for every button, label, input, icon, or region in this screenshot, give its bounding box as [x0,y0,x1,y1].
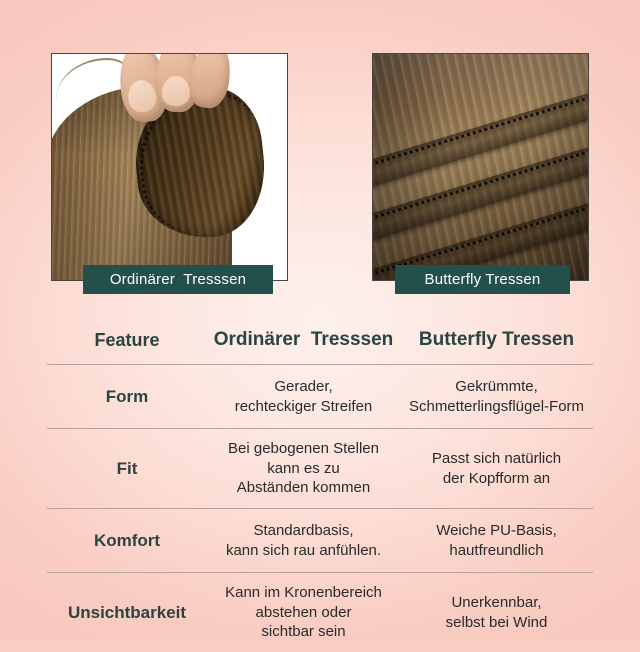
ordinary-weft-photo [51,53,288,281]
column-header-feature: Feature [47,329,207,352]
row-butterfly-cell: Unerkennbar, selbst bei Wind [400,593,593,632]
row-butterfly-cell: Passt sich natürlich der Kopfform an [400,449,593,488]
row-butterfly-cell: Gekrümmte, Schmetterlingsflügel-Form [400,377,593,416]
butterfly-weft-illustration [373,54,588,280]
table-header-row: Feature Ordinärer Tresssen Butterfly Tre… [47,316,593,364]
row-feature-label: Form [47,386,207,407]
row-ordinary-cell: Gerader, rechteckiger Streifen [207,377,400,416]
ordinary-weft-illustration [52,54,287,280]
row-ordinary-cell: Bei gebogenen Stellen kann es zu Abständ… [207,439,400,498]
comparison-infographic: Ordinärer Tresssen Butterfly Tressen Fea… [0,0,640,640]
photo-section: Ordinärer Tresssen Butterfly Tressen [0,0,640,300]
row-ordinary-cell: Kann im Kronenbereich abstehen oder sich… [207,583,400,642]
table-row: Unsichtbarkeit Kann im Kronenbereich abs… [47,572,593,652]
row-ordinary-cell: Standardbasis, kann sich rau anfühlen. [207,521,400,560]
table-row: Form Gerader, rechteckiger Streifen Gekr… [47,364,593,428]
column-header-butterfly: Butterfly Tressen [400,328,593,353]
row-feature-label: Komfort [47,530,207,551]
table-row: Fit Bei gebogenen Stellen kann es zu Abs… [47,428,593,508]
table-row: Komfort Standardbasis, kann sich rau anf… [47,508,593,572]
butterfly-weft-caption: Butterfly Tressen [395,265,570,294]
column-header-ordinary: Ordinärer Tresssen [207,328,400,353]
ordinary-weft-caption: Ordinärer Tresssen [83,265,273,294]
comparison-table: Feature Ordinärer Tresssen Butterfly Tre… [0,316,640,652]
photo-shading-overlay [373,54,588,280]
row-feature-label: Fit [47,458,207,479]
butterfly-weft-photo [372,53,589,281]
row-feature-label: Unsichtbarkeit [47,602,207,623]
row-butterfly-cell: Weiche PU-Basis, hautfreundlich [400,521,593,560]
